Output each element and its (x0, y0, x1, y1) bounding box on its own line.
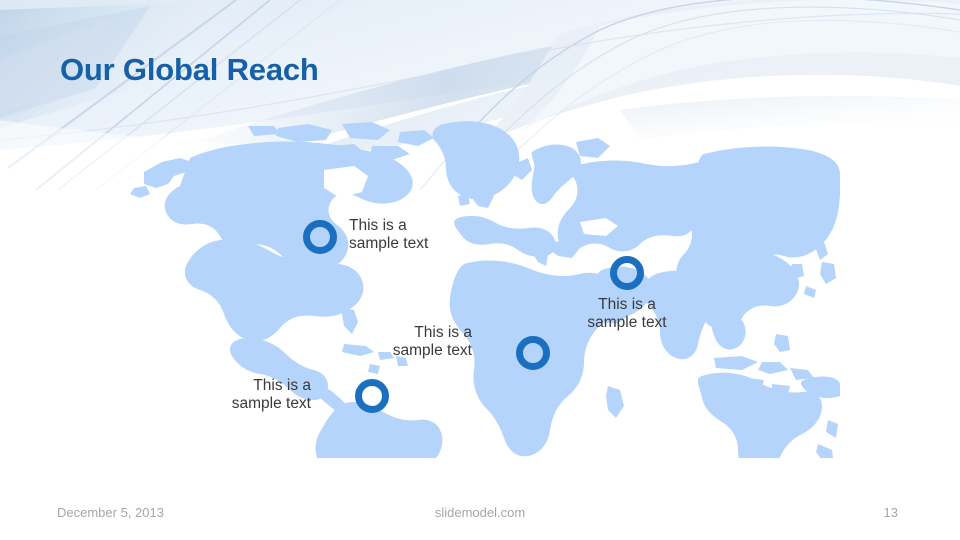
marker-ring-icon[interactable] (516, 336, 550, 370)
footer-page-number: 13 (838, 505, 960, 520)
marker-label-line1: This is a (349, 217, 428, 235)
marker-ring-icon[interactable] (355, 379, 389, 413)
marker-label-line2: sample text (332, 342, 472, 360)
marker-africa-label: This is a sample text (332, 324, 472, 360)
marker-ring-icon[interactable] (303, 220, 337, 254)
marker-label-line1: This is a (547, 296, 707, 314)
marker-label-line2: sample text (349, 235, 428, 253)
footer: December 5, 2013 slidemodel.com 13 (0, 505, 960, 529)
slide-canvas: Our Global Reach (0, 0, 960, 540)
marker-asia-label: This is a sample text (547, 296, 707, 332)
marker-ring-icon[interactable] (610, 256, 644, 290)
marker-north-america-label: This is a sample text (349, 217, 428, 253)
page-title: Our Global Reach (60, 52, 319, 88)
marker-label-line1: This is a (171, 377, 311, 395)
marker-south-america-label: This is a sample text (171, 377, 311, 413)
marker-label-line1: This is a (332, 324, 472, 342)
marker-label-line2: sample text (547, 314, 707, 332)
marker-label-line2: sample text (171, 395, 311, 413)
footer-brand[interactable]: slidemodel.com (0, 505, 960, 520)
